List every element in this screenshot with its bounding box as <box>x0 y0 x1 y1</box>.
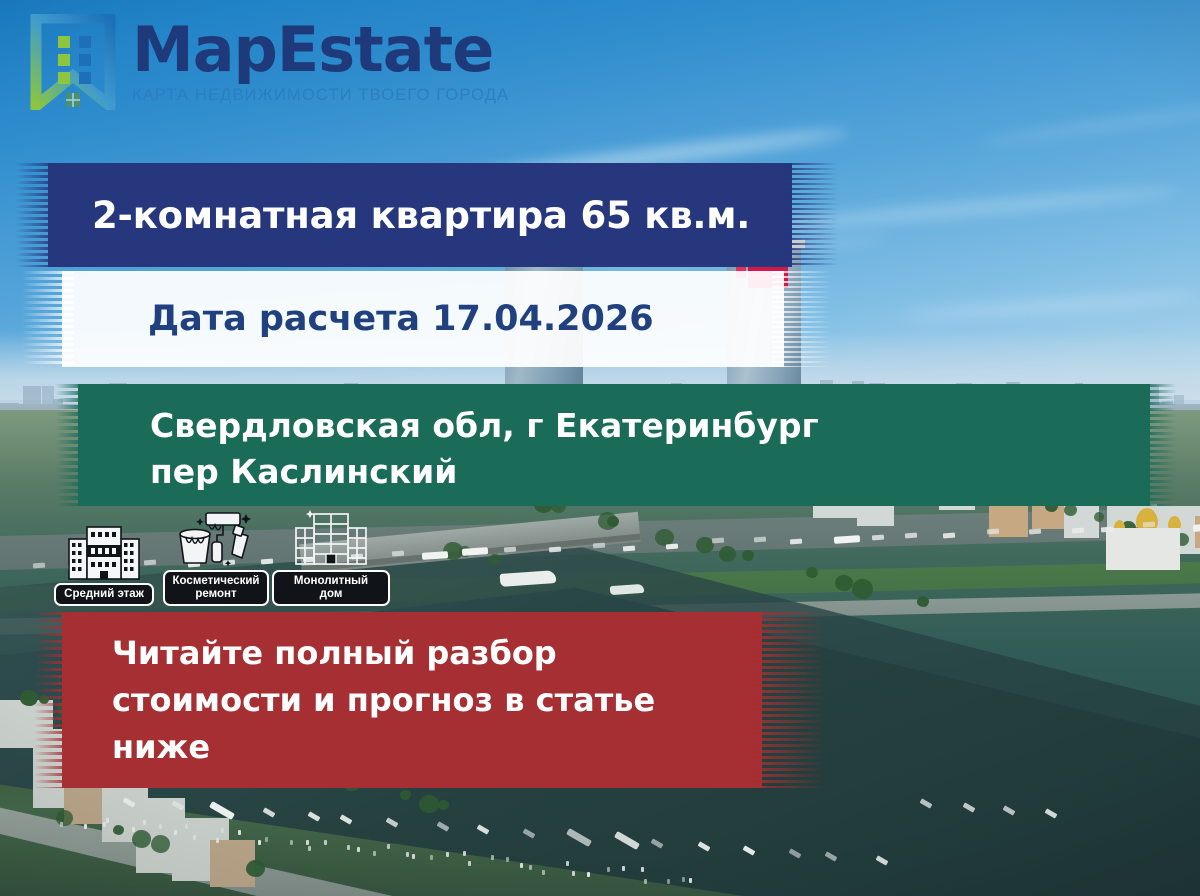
address-banner: Свердловская обл, г Екатеринбург пер Кас… <box>78 384 1150 506</box>
cta-banner[interactable]: Читайте полный разбор стоимости и прогно… <box>62 612 762 788</box>
bookmark-building-icon <box>30 14 116 110</box>
brush-edge-left <box>56 384 86 506</box>
brush-edge-left <box>22 271 74 367</box>
property-title-text: 2-комнатная квартира 65 кв.м. <box>92 194 750 237</box>
cta-line-3: ниже <box>112 724 655 771</box>
address-line-1: Свердловская обл, г Екатеринбург <box>150 403 819 449</box>
badge-monolithic-house[interactable]: Монолитный дом <box>272 508 390 606</box>
cta-line-1: Читайте полный разбор <box>112 630 655 677</box>
badge-label: Монолитный дом <box>272 570 390 606</box>
brand-name: MapEstate <box>132 20 509 80</box>
paint-roller-bucket-brush-icon <box>176 508 256 568</box>
cta-line-2: стоимости и прогноз в статье <box>112 677 655 724</box>
brush-edge-left <box>16 163 56 267</box>
brush-edge-right <box>772 271 832 367</box>
calculation-date-text: Дата расчета 17.04.2026 <box>148 299 654 339</box>
brand-tagline: КАРТА НЕДВИЖИМОСТИ ТВОЕГО ГОРОДА <box>132 86 509 105</box>
brush-edge-right <box>1142 384 1176 506</box>
badge-label: Средний этаж <box>54 583 154 606</box>
address-text: Свердловская обл, г Екатеринбург пер Кас… <box>150 403 819 494</box>
brand-logo[interactable]: MapEstate КАРТА НЕДВИЖИМОСТИ ТВОЕГО ГОРО… <box>30 14 509 110</box>
monolithic-building-icon <box>288 508 374 568</box>
cta-text: Читайте полный разбор стоимости и прогно… <box>112 630 655 771</box>
badge-middle-floor[interactable]: Средний этаж <box>48 521 160 606</box>
address-line-2: пер Каслинский <box>150 449 819 495</box>
apartment-building-icon <box>67 521 141 581</box>
badge-cosmetic-renovation[interactable]: Косметический ремонт <box>164 508 268 606</box>
brush-edge-right <box>782 163 838 267</box>
calculation-date-banner: Дата расчета 17.04.2026 <box>62 271 784 367</box>
property-title-banner: 2-комнатная квартира 65 кв.м. <box>48 163 792 267</box>
feature-badges: Средний этаж <box>48 508 390 606</box>
badge-label: Косметический ремонт <box>163 570 270 606</box>
brush-edge-left <box>34 612 70 788</box>
poster-canvas: MapEstate КАРТА НЕДВИЖИМОСТИ ТВОЕГО ГОРО… <box>0 0 1200 896</box>
brush-edge-right <box>748 612 826 788</box>
